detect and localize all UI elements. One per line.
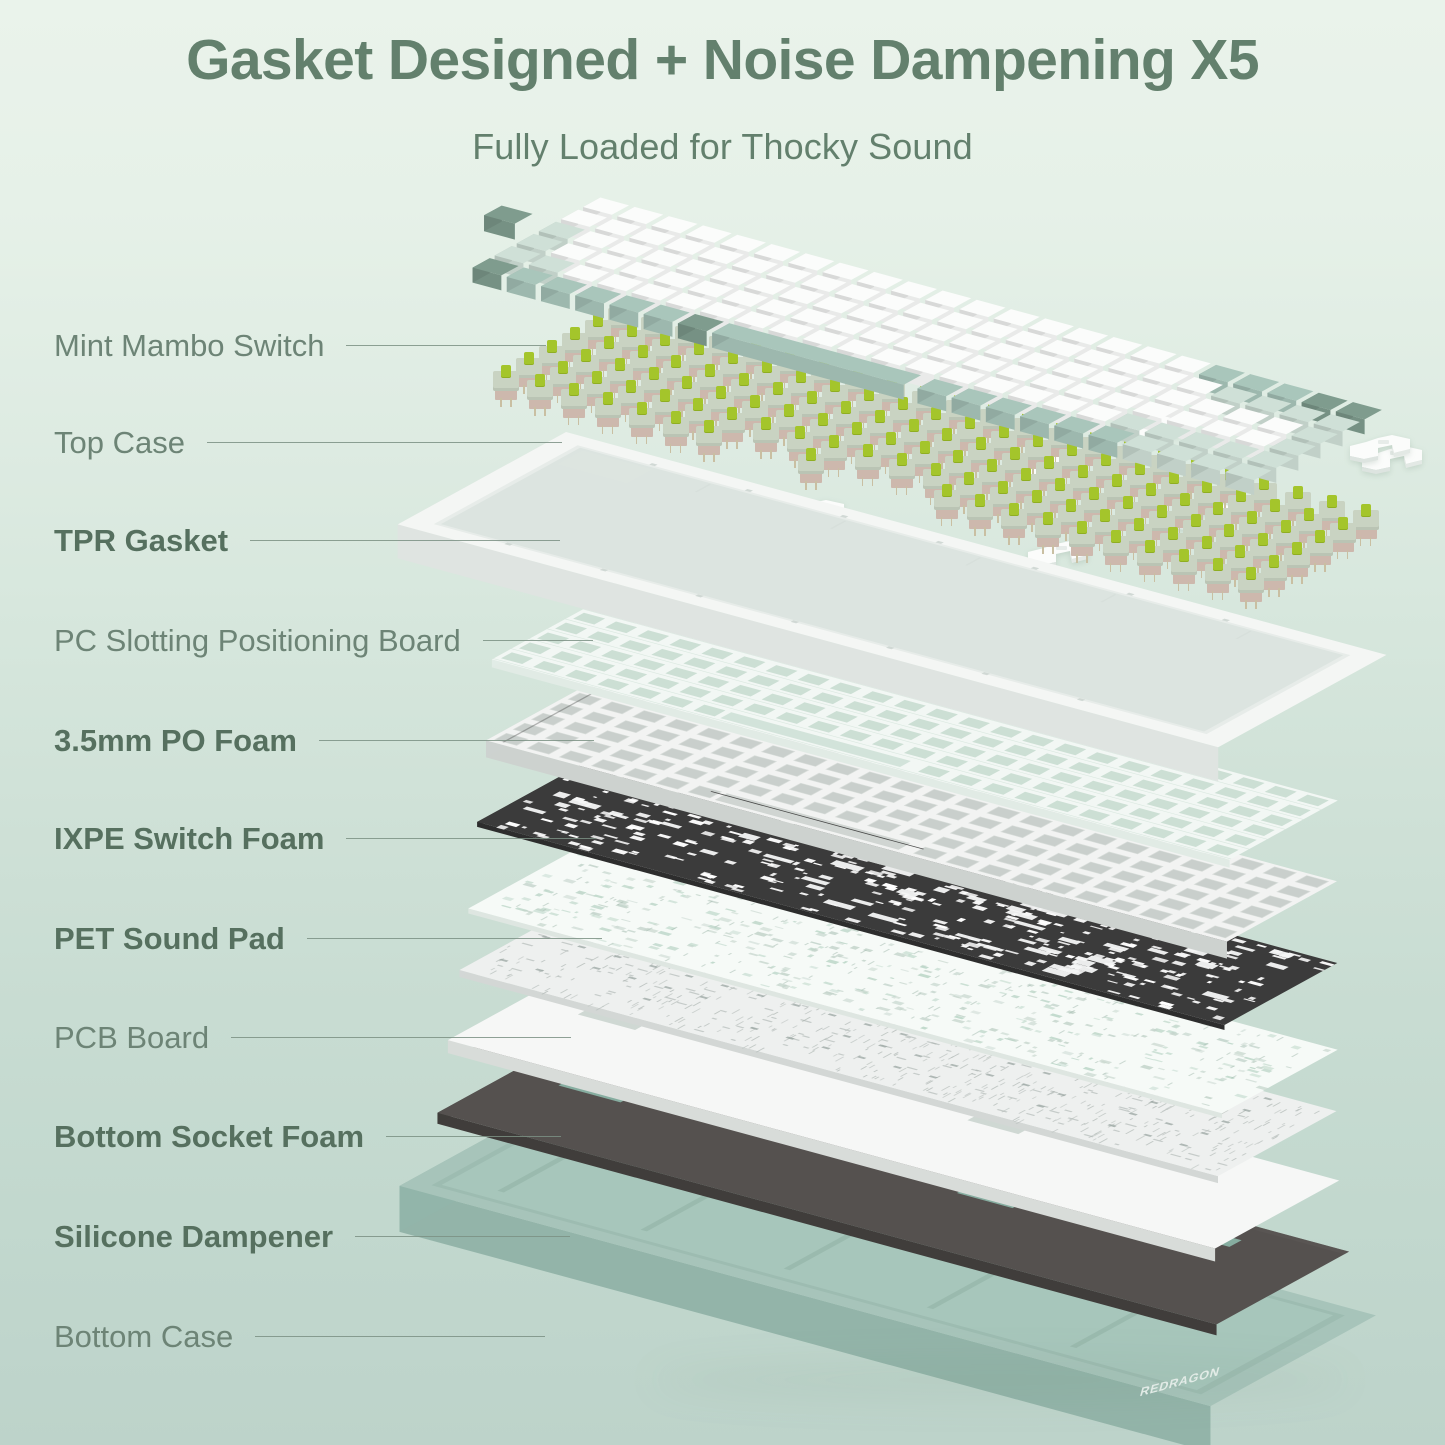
callout-pc-slotting-positioning-board: PC Slotting Positioning Board [0, 617, 593, 663]
callout-label: PC Slotting Positioning Board [0, 625, 461, 656]
callout-pcb-board: PCB Board [0, 1014, 571, 1060]
callout-3-5mm-po-foam: 3.5mm PO Foam [0, 717, 594, 763]
leader-line [307, 938, 602, 939]
callout-label: Mint Mambo Switch [0, 330, 324, 361]
leader-line [207, 442, 562, 443]
callout-ixpe-switch-foam: IXPE Switch Foam [0, 815, 596, 861]
callout-label: 3.5mm PO Foam [0, 725, 297, 756]
leader-line [386, 1136, 561, 1137]
layer-shadow [650, 1358, 1350, 1402]
callout-label: Bottom Case [0, 1321, 233, 1352]
leader-line [255, 1336, 545, 1337]
callout-label: PCB Board [0, 1022, 209, 1053]
callout-pet-sound-pad: PET Sound Pad [0, 915, 602, 961]
callout-label: Bottom Socket Foam [0, 1121, 364, 1152]
leader-line [346, 838, 596, 839]
leader-line [346, 345, 546, 346]
callout-label: TPR Gasket [0, 525, 228, 556]
callout-tpr-gasket: TPR Gasket [0, 517, 560, 563]
leader-line [250, 540, 560, 541]
leader-line [319, 740, 594, 741]
callout-top-case: Top Case [0, 419, 562, 465]
callout-label: Top Case [0, 427, 185, 458]
callout-label: Silicone Dampener [0, 1221, 333, 1252]
callout-mint-mambo-switch: Mint Mambo Switch [0, 322, 546, 368]
callout-bottom-socket-foam: Bottom Socket Foam [0, 1113, 561, 1159]
leader-line [355, 1236, 570, 1237]
callout-label: PET Sound Pad [0, 923, 285, 954]
product-infographic: Gasket Designed + Noise Dampening X5 Ful… [0, 0, 1445, 1445]
callout-label: IXPE Switch Foam [0, 823, 324, 854]
callout-bottom-case: Bottom Case [0, 1313, 545, 1359]
callout-silicone-dampener: Silicone Dampener [0, 1213, 570, 1259]
leader-line [231, 1037, 571, 1038]
leader-line [483, 640, 593, 641]
